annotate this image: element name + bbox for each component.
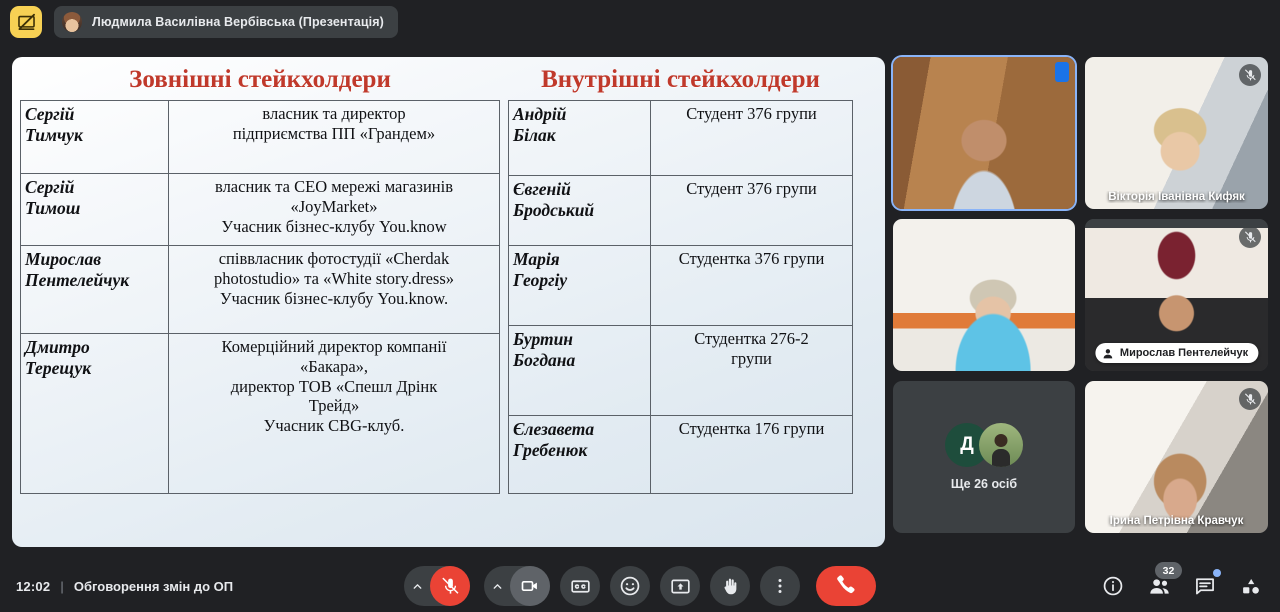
stakeholder-name: Дмитро Терещук — [21, 334, 169, 494]
stakeholder-desc: власник та директор підприємства ПП «Гра… — [169, 101, 500, 174]
camera-control-group — [484, 566, 550, 606]
phone-hangup-icon[interactable] — [816, 566, 876, 606]
mic-muted-icon — [1239, 226, 1261, 248]
stakeholder-name: Мирослав Пентелейчук — [21, 246, 169, 334]
video-feed — [893, 57, 1075, 209]
mic-off-icon[interactable] — [430, 566, 470, 606]
internal-stakeholders-title: Внутрішні стейкхолдери — [508, 65, 853, 94]
presentation-banner: Людмила Василівна Вербівська (Презентаці… — [54, 6, 398, 38]
stakeholder-name: Сергій Тимчук — [21, 101, 169, 174]
people-icon[interactable]: 32 — [1144, 571, 1174, 601]
avatar — [62, 12, 82, 32]
table-row: Дмитро Терещук Комерційний директор комп… — [21, 334, 500, 494]
activities-shapes-icon[interactable] — [1236, 571, 1266, 601]
chat-bubble-icon[interactable] — [1190, 571, 1220, 601]
stakeholder-desc: Студентка 376 групи — [651, 246, 853, 326]
stakeholder-desc: Студентка 176 групи — [651, 416, 853, 494]
internal-stakeholders-column: Внутрішні стейкхолдери Андрій Білак Студ… — [508, 57, 853, 494]
meeting-info: 12:02 | Обговорення змін до ОП — [16, 579, 233, 594]
closed-captions-icon[interactable] — [560, 566, 600, 606]
stakeholder-desc: власник та СЕО мережі магазинів «JoyMark… — [169, 174, 500, 246]
table-row: Сергій Тимош власник та СЕО мережі магаз… — [21, 174, 500, 246]
participant-name: Вікторія Іванівна Кифяк — [1085, 191, 1268, 203]
stakeholder-desc: співвласник фотостудії «Cherdak photostu… — [169, 246, 500, 334]
meeting-window: Людмила Василівна Вербівська (Презентаці… — [0, 0, 1280, 612]
table-row: Марія Георгіу Студентка 376 групи — [509, 246, 853, 326]
emoji-smile-icon[interactable] — [610, 566, 650, 606]
mic-muted-icon — [1239, 64, 1261, 86]
meeting-name: Обговорення змін до ОП — [74, 579, 233, 594]
more-participants-tile[interactable]: Д Ще 26 осіб — [893, 381, 1075, 533]
stakeholder-name: Марія Георгіу — [509, 246, 651, 326]
participant-tile[interactable]: Мирослав Пентелейчук — [1085, 219, 1268, 371]
right-controls: 32 — [1098, 571, 1266, 601]
stakeholder-desc: Комерційний директор компанії «Бакара», … — [169, 334, 500, 494]
participants-count-badge: 32 — [1155, 562, 1182, 579]
participant-name-pill: Мирослав Пентелейчук — [1095, 343, 1258, 363]
call-controls — [404, 566, 876, 606]
screen-share-off-icon[interactable] — [10, 6, 42, 38]
mic-control-group — [404, 566, 470, 606]
participant-name: Ірина Петрівна Кравчук — [1085, 515, 1268, 527]
external-stakeholders-table: Сергій Тимчук власник та директор підпри… — [20, 100, 500, 494]
avatar — [979, 423, 1023, 467]
shared-screen-slide[interactable]: Зовнішні стейкхолдери Сергій Тимчук влас… — [12, 57, 885, 547]
chat-unread-dot — [1213, 569, 1221, 577]
more-participants-label: Ще 26 осіб — [951, 477, 1017, 491]
table-row: Єлезавета Гребенюк Студентка 176 групи — [509, 416, 853, 494]
participant-tile[interactable]: Вікторія Іванівна Кифяк — [1085, 57, 1268, 209]
blue-indicator-icon — [1055, 62, 1069, 82]
stakeholder-name: Андрій Білак — [509, 101, 651, 176]
pill-label: Мирослав Пентелейчук — [1120, 347, 1248, 359]
video-feed — [893, 219, 1075, 371]
stakeholder-desc: Студент 376 групи — [651, 176, 853, 246]
stakeholder-name: Євгеній Бродський — [509, 176, 651, 246]
person-avatar-icon — [1101, 346, 1115, 360]
participant-tile[interactable] — [893, 57, 1075, 209]
bottom-bar: 12:02 | Обговорення змін до ОП — [0, 560, 1280, 612]
raised-hand-icon[interactable] — [710, 566, 750, 606]
separator: | — [60, 579, 64, 594]
info-icon[interactable] — [1098, 571, 1128, 601]
stakeholder-name: Сергій Тимош — [21, 174, 169, 246]
top-bar: Людмила Василівна Вербівська (Презентаці… — [0, 0, 1280, 44]
camera-options-chevron-icon[interactable] — [484, 580, 510, 593]
stakeholder-desc: Студент 376 групи — [651, 101, 853, 176]
stakeholder-name: Буртин Богдана — [509, 326, 651, 416]
video-camera-icon[interactable] — [510, 566, 550, 606]
external-stakeholders-title: Зовнішні стейкхолдери — [20, 65, 500, 94]
participant-tile[interactable]: Ірина Петрівна Кравчук — [1085, 381, 1268, 533]
internal-stakeholders-table: Андрій Білак Студент 376 групи Євгеній Б… — [508, 100, 853, 494]
more-vertical-icon[interactable] — [760, 566, 800, 606]
mic-muted-icon — [1239, 388, 1261, 410]
stakeholder-name: Єлезавета Гребенюк — [509, 416, 651, 494]
presenter-label: Людмила Василівна Вербівська (Презентаці… — [92, 15, 384, 29]
table-row: Євгеній Бродський Студент 376 групи — [509, 176, 853, 246]
external-stakeholders-column: Зовнішні стейкхолдери Сергій Тимчук влас… — [20, 57, 500, 494]
table-row: Мирослав Пентелейчук співвласник фотосту… — [21, 246, 500, 334]
mic-options-chevron-icon[interactable] — [404, 580, 430, 593]
participant-tile[interactable] — [893, 219, 1075, 371]
meeting-time: 12:02 — [16, 579, 50, 594]
table-row: Сергій Тимчук власник та директор підпри… — [21, 101, 500, 174]
participant-tiles: Вікторія Іванівна Кифяк — [893, 57, 1268, 547]
stakeholder-desc: Студентка 276-2 групи — [651, 326, 853, 416]
avatar-group: Д — [945, 423, 1023, 467]
table-row: Буртин Богдана Студентка 276-2 групи — [509, 326, 853, 416]
present-screen-icon[interactable] — [660, 566, 700, 606]
table-row: Андрій Білак Студент 376 групи — [509, 101, 853, 176]
stage: Зовнішні стейкхолдери Сергій Тимчук влас… — [0, 44, 1280, 560]
